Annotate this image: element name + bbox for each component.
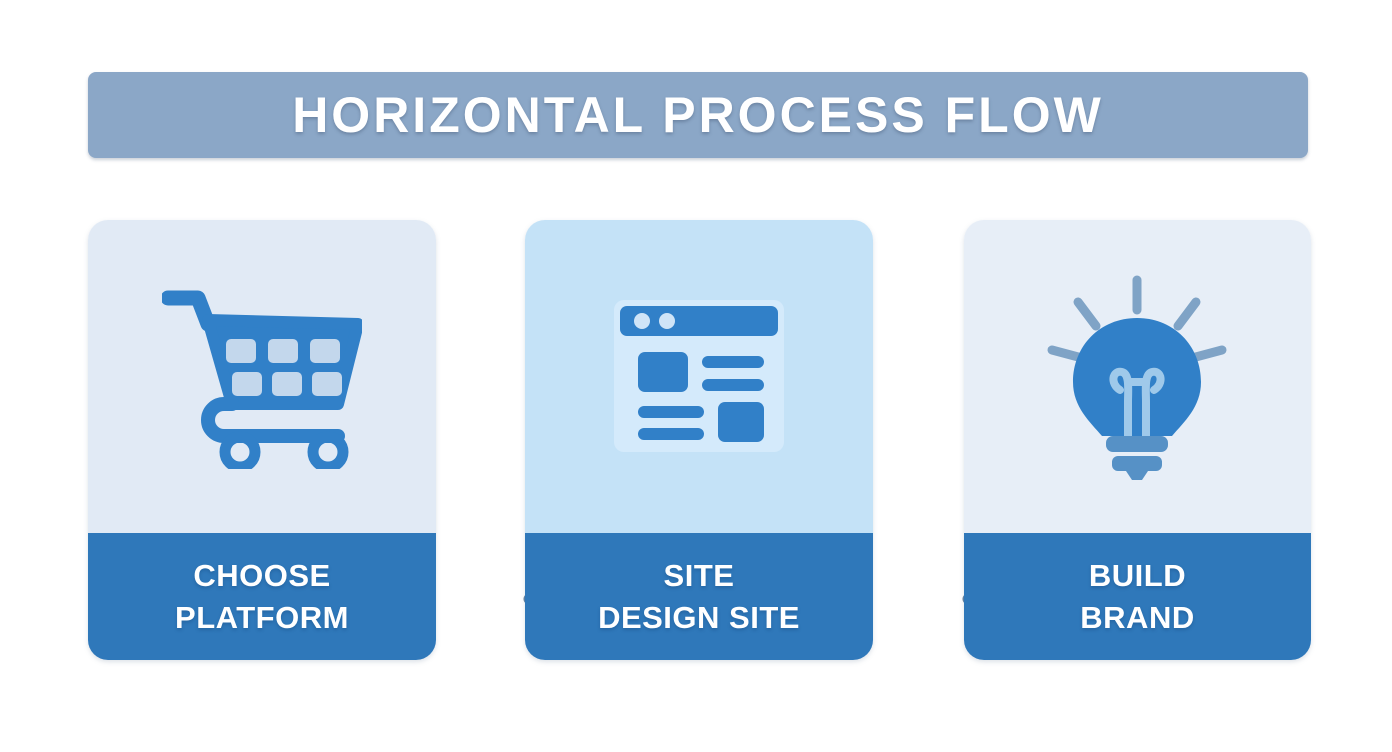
- step-3-footer: BUILD BRAND: [964, 533, 1311, 660]
- step-1-icon-area: [88, 220, 436, 533]
- step-2-icon-area: [525, 220, 873, 533]
- page-title: HORIZONTAL PROCESS FLOW: [292, 90, 1104, 140]
- step-2-label: SITE DESIGN SITE: [598, 555, 800, 639]
- process-step-1[interactable]: CHOOSE PLATFORM: [88, 220, 436, 660]
- process-steps-row: CHOOSE PLATFORM: [88, 220, 1311, 660]
- step-3-icon-area: [964, 220, 1311, 533]
- step-1-label: CHOOSE PLATFORM: [175, 555, 349, 639]
- step-3-label: BUILD BRAND: [1080, 555, 1194, 639]
- header-banner: HORIZONTAL PROCESS FLOW: [88, 72, 1308, 158]
- step-1-footer: CHOOSE PLATFORM: [88, 533, 436, 660]
- shopping-cart-icon: [162, 284, 362, 469]
- web-layout-icon: [604, 294, 794, 459]
- process-flow-infographic: HORIZONTAL PROCESS FLOW: [0, 0, 1392, 752]
- process-step-2[interactable]: SITE DESIGN SITE: [525, 220, 873, 660]
- step-2-footer: SITE DESIGN SITE: [525, 533, 873, 660]
- lightbulb-icon: [1040, 272, 1235, 482]
- process-step-3[interactable]: BUILD BRAND: [964, 220, 1311, 660]
